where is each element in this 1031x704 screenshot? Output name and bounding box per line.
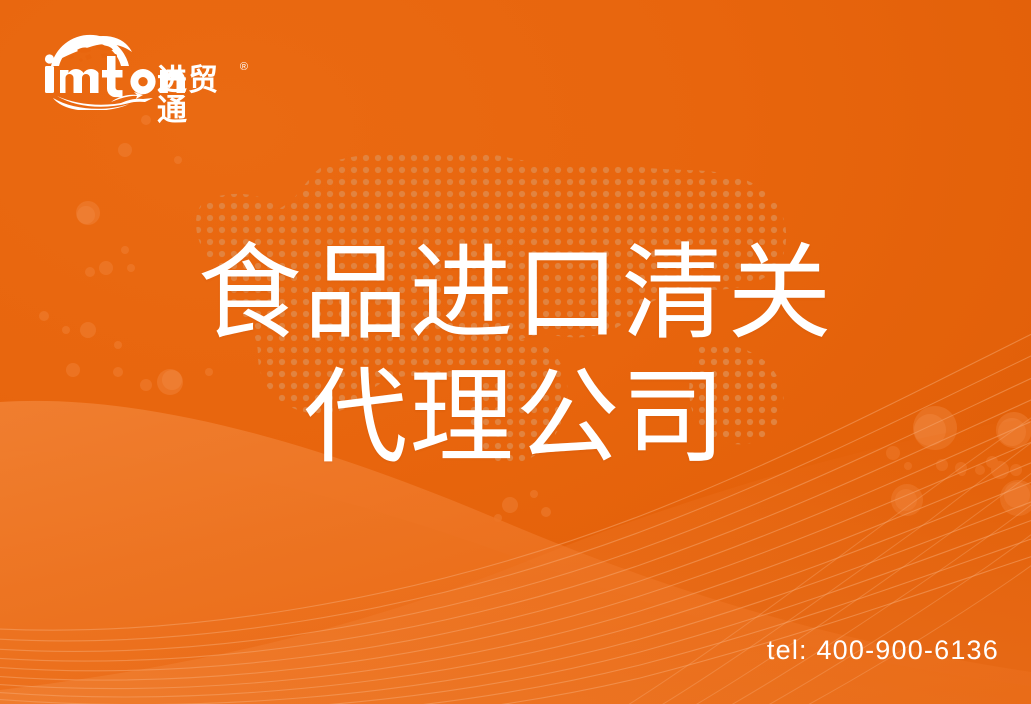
poster-canvas: 进贸通 ® 食品进口清关 代理公司 tel: 400-900-6136 bbox=[0, 0, 1031, 704]
logo-brand-chinese-wrap: 进贸通 ® bbox=[157, 66, 248, 126]
page-title: 食品进口清关 代理公司 bbox=[0, 232, 1031, 480]
swoosh-bird-icon bbox=[53, 92, 153, 110]
registered-mark-icon: ® bbox=[240, 62, 248, 73]
contact-phone[interactable]: tel: 400-900-6136 bbox=[767, 635, 999, 666]
globe-arc-icon bbox=[51, 35, 132, 66]
page-title-line-1: 食品进口清关 bbox=[0, 232, 1031, 356]
brand-logo[interactable]: 进贸通 ® bbox=[33, 22, 248, 110]
page-title-line-2: 代理公司 bbox=[0, 356, 1031, 480]
logo-brand-chinese: 进贸通 bbox=[157, 66, 238, 126]
